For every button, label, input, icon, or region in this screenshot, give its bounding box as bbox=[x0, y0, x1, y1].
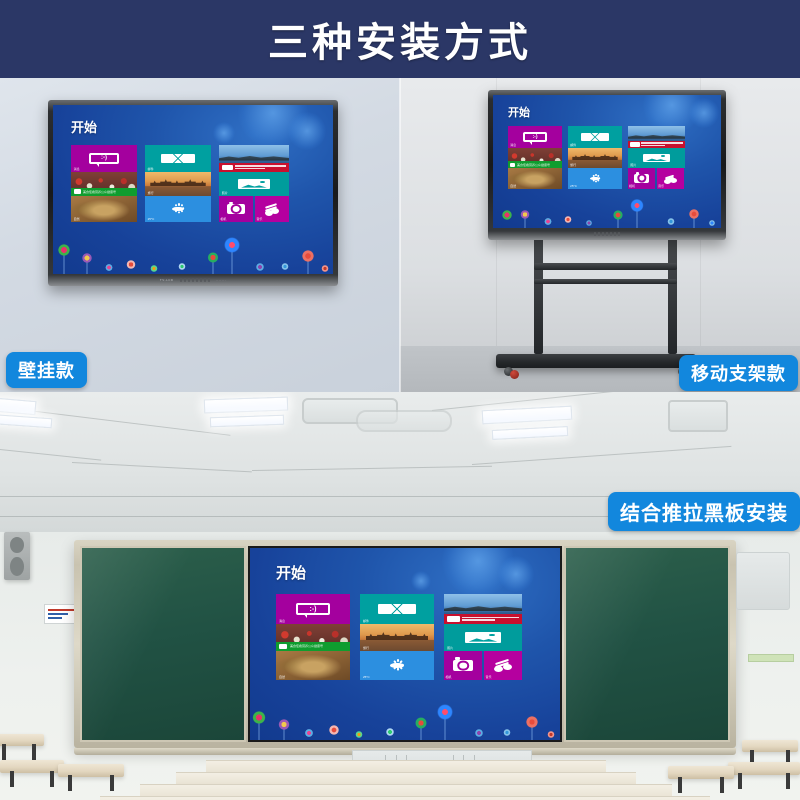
mail-icon bbox=[581, 133, 609, 141]
tile-caption: 音乐 bbox=[256, 217, 262, 221]
ceiling-light bbox=[0, 414, 52, 429]
chat-icon: :-) bbox=[89, 153, 119, 164]
header-banner: 三种安装方式 bbox=[0, 0, 800, 78]
tv-control-panel bbox=[493, 229, 721, 239]
start-label: 开始 bbox=[508, 104, 530, 120]
tile-column-2: 邮件 旅行 bbox=[568, 126, 622, 189]
tv-control-panel: TV-LCD ······· bbox=[53, 275, 333, 285]
leaf-tile[interactable]: 自然 bbox=[276, 651, 350, 680]
mail-tile[interactable]: 邮件 bbox=[145, 145, 211, 172]
tile-caption: 美食佳肴营养公众健康号 bbox=[290, 644, 323, 648]
ceiling-vent bbox=[668, 400, 728, 432]
tile-caption: 消息 bbox=[74, 167, 80, 171]
ceiling-light bbox=[0, 395, 36, 415]
tile-row-bottom: 相机 音乐 bbox=[628, 168, 685, 189]
music-tile[interactable]: 音乐 bbox=[657, 168, 684, 189]
chalkboard-panel-left bbox=[80, 546, 246, 742]
floor-riser bbox=[100, 796, 710, 800]
music-icon bbox=[263, 203, 281, 214]
wall-shelf bbox=[748, 654, 794, 662]
tile-caption: 自然 bbox=[510, 184, 516, 188]
panel-blackboard-classroom: 开始 :-) 消息 美食佳肴营养公众健康号 bbox=[0, 392, 800, 800]
messaging-tile[interactable]: :-) 消息 bbox=[508, 126, 562, 148]
tile-caption: 消息 bbox=[510, 143, 516, 147]
student-desk bbox=[742, 740, 798, 752]
photo-icon bbox=[643, 154, 669, 162]
tile-column-3: 照片 相机 bbox=[628, 126, 685, 189]
tile-caption: 消息 bbox=[279, 619, 285, 623]
music-icon bbox=[663, 174, 677, 183]
badge-mobile-stand: 移动支架款 bbox=[679, 355, 798, 391]
sun-icon bbox=[165, 204, 191, 214]
chalkboard-panel-right bbox=[564, 546, 730, 742]
leaf-tile[interactable]: 自然 bbox=[71, 196, 137, 222]
panel-divider bbox=[399, 78, 401, 392]
castle-photo bbox=[150, 178, 205, 186]
cart-base bbox=[496, 354, 696, 368]
tile-caption: 25°C bbox=[363, 675, 370, 679]
tile-column-1: :-) 消息 美食佳肴营养公众健康号 自然 bbox=[508, 126, 562, 189]
cart-post-right bbox=[668, 236, 677, 354]
chat-icon: :-) bbox=[296, 603, 330, 616]
tile-column-1: :-) 消息 美食佳肴营养公众健康号 bbox=[276, 594, 350, 680]
tile-caption: 美食佳肴营养公众健康号 bbox=[517, 163, 550, 167]
tile-row-bottom: 相机 音乐 bbox=[219, 196, 289, 222]
news-photo bbox=[219, 155, 289, 161]
sliding-blackboard-assembly: 开始 :-) 消息 美食佳肴营养公众健康号 bbox=[74, 540, 736, 748]
tile-caption: 自然 bbox=[279, 675, 285, 679]
tile-column-2: 邮件 旅行 bbox=[360, 594, 434, 680]
badge-wall-mount: 壁挂款 bbox=[6, 352, 87, 388]
tile-caption: 旅行 bbox=[148, 191, 154, 195]
wall-speaker bbox=[4, 532, 30, 580]
model-mark: ······· bbox=[216, 278, 227, 282]
tile-column-3: 照片 相机 bbox=[219, 145, 289, 222]
tile-caption: 照片 bbox=[222, 191, 228, 195]
chart-icon bbox=[74, 189, 81, 194]
badge-blackboard: 结合推拉黑板安装 bbox=[608, 492, 800, 531]
ceiling-light bbox=[204, 397, 288, 414]
news-photo bbox=[444, 605, 522, 612]
music-icon bbox=[493, 659, 513, 672]
camera-icon bbox=[453, 660, 473, 672]
messaging-tile[interactable]: :-) 消息 bbox=[276, 594, 350, 624]
leaf-tile[interactable]: 自然 bbox=[508, 168, 562, 189]
student-desk bbox=[0, 734, 44, 746]
start-screen-classroom: 开始 :-) 消息 美食佳肴营养公众健康号 bbox=[250, 548, 560, 740]
music-tile[interactable]: 音乐 bbox=[255, 196, 289, 222]
photos-tile[interactable]: 照片 bbox=[628, 148, 685, 168]
news-tile[interactable] bbox=[219, 145, 289, 172]
food-tile[interactable]: 美食佳肴营养公众健康号 bbox=[71, 172, 137, 196]
news-icon bbox=[447, 616, 460, 622]
tile-caption: 照片 bbox=[447, 646, 453, 650]
panel-mobile-stand: 开始 :-) 消息 美食佳肴营养公众健康号 bbox=[400, 78, 800, 392]
start-label: 开始 bbox=[71, 117, 97, 136]
product-infographic: 三种安装方式 开始 :-) 消息 bbox=[0, 0, 800, 800]
tile-column-1: :-) 消息 美食佳肴营养公众健康号 自然 bbox=[71, 145, 137, 222]
castle-photo bbox=[572, 153, 617, 160]
weather-tile[interactable]: 25°C bbox=[145, 196, 211, 222]
messaging-tile[interactable]: :-) 消息 bbox=[71, 145, 137, 172]
tile-caption: 邮件 bbox=[363, 619, 369, 623]
sun-icon bbox=[382, 660, 412, 672]
news-banner bbox=[219, 163, 289, 172]
tile-caption: 相机 bbox=[629, 184, 635, 188]
mail-icon bbox=[161, 154, 195, 164]
tv-wall-mounted: 开始 :-) 消息 美食佳肴营养公众健康 bbox=[48, 100, 338, 286]
mail-tile[interactable]: 邮件 bbox=[568, 126, 622, 148]
music-tile[interactable]: 音乐 bbox=[484, 651, 522, 680]
tile-caption: 邮件 bbox=[148, 167, 154, 171]
screen-decoration bbox=[53, 233, 333, 274]
ceiling-light bbox=[492, 426, 568, 440]
travel-tile[interactable]: 旅行 bbox=[145, 172, 211, 196]
floor-riser bbox=[176, 772, 636, 784]
weather-tile[interactable]: 25°C bbox=[360, 651, 434, 680]
food-tile[interactable]: 美食佳肴营养公众健康号 bbox=[508, 148, 562, 168]
cart-crossbar bbox=[534, 279, 677, 284]
ceiling-light bbox=[482, 406, 573, 425]
student-desk bbox=[58, 764, 124, 777]
tile-caption: 旅行 bbox=[570, 163, 576, 167]
page-title: 三种安装方式 bbox=[268, 10, 532, 68]
tile-grid: :-) 消息 美食佳肴营养公众健康号 bbox=[276, 594, 522, 680]
travel-tile[interactable]: 旅行 bbox=[568, 148, 622, 168]
tile-grid: :-) 消息 美食佳肴营养公众健康号 自然 bbox=[71, 145, 289, 222]
tile-row-bottom: 相机 音乐 bbox=[444, 651, 522, 680]
camera-tile[interactable]: 相机 bbox=[628, 168, 655, 189]
tile-caption: 相机 bbox=[220, 217, 226, 221]
tile-caption: 旅行 bbox=[363, 646, 369, 650]
food-tile[interactable]: 美食佳肴营养公众健康号 bbox=[276, 624, 350, 651]
start-screen-wall: 开始 :-) 消息 美食佳肴营养公众健康 bbox=[53, 105, 333, 274]
photos-tile[interactable]: 照片 bbox=[219, 172, 289, 196]
sun-icon bbox=[584, 174, 606, 182]
start-screen-stand: 开始 :-) 消息 美食佳肴营养公众健康号 bbox=[493, 95, 721, 228]
screen-decoration bbox=[493, 196, 721, 228]
tile-caption: 相机 bbox=[446, 675, 452, 679]
panel-wall-mount: 开始 :-) 消息 美食佳肴营养公众健康 bbox=[0, 78, 400, 392]
button-strip[interactable] bbox=[594, 232, 620, 236]
button-strip[interactable] bbox=[180, 278, 210, 282]
photos-tile[interactable]: 照片 bbox=[444, 624, 522, 651]
weather-tile[interactable]: 25°C bbox=[568, 168, 622, 189]
chat-icon: :-) bbox=[523, 132, 548, 141]
mail-icon bbox=[378, 604, 416, 615]
student-desk bbox=[728, 762, 800, 775]
tile-caption: 邮件 bbox=[570, 143, 576, 147]
cart-shelf bbox=[534, 263, 677, 270]
tv-on-stand: 开始 :-) 消息 美食佳肴营养公众健康号 bbox=[488, 90, 726, 240]
chart-icon bbox=[279, 644, 287, 650]
news-banner bbox=[444, 614, 522, 624]
news-photo bbox=[628, 134, 685, 139]
ceiling-projector-mount bbox=[356, 410, 452, 432]
student-desk bbox=[0, 760, 64, 773]
news-banner bbox=[628, 141, 685, 148]
news-tile[interactable] bbox=[444, 594, 522, 624]
chart-icon bbox=[510, 163, 515, 167]
camera-tile[interactable]: 相机 bbox=[444, 651, 482, 680]
tile-caption: 音乐 bbox=[658, 184, 664, 188]
mail-tile[interactable]: 邮件 bbox=[360, 594, 434, 624]
interactive-display: 开始 :-) 消息 美食佳肴营养公众健康号 bbox=[248, 546, 562, 742]
tile-caption: 25°C bbox=[570, 184, 577, 188]
brand-logo: TV-LCD bbox=[160, 278, 174, 282]
student-desk bbox=[668, 766, 734, 779]
top-panels-row: 开始 :-) 消息 美食佳肴营养公众健康 bbox=[0, 78, 800, 392]
tile-column-2: 邮件 旅行 bbox=[145, 145, 211, 222]
tile-column-3: 照片 相机 bbox=[444, 594, 522, 680]
tile-caption: 美食佳肴营养公众健康号 bbox=[83, 190, 116, 194]
floor-riser bbox=[206, 760, 606, 772]
camera-tile[interactable]: 相机 bbox=[219, 196, 253, 222]
board-inner: 开始 :-) 消息 美食佳肴营养公众健康号 bbox=[80, 546, 730, 742]
caster-wheel bbox=[510, 370, 519, 379]
ceiling-light bbox=[210, 415, 284, 428]
castle-photo bbox=[366, 631, 428, 640]
tile-caption: 25°C bbox=[148, 217, 155, 221]
photo-icon bbox=[465, 632, 501, 643]
start-label: 开始 bbox=[276, 562, 306, 583]
camera-icon bbox=[634, 174, 648, 182]
tile-caption: 自然 bbox=[74, 217, 80, 221]
travel-tile[interactable]: 旅行 bbox=[360, 624, 434, 651]
wall-cabinet bbox=[736, 552, 790, 610]
camera-icon bbox=[227, 204, 245, 214]
news-icon bbox=[630, 142, 639, 146]
tile-caption: 音乐 bbox=[486, 675, 492, 679]
tile-grid: :-) 消息 美食佳肴营养公众健康号 自然 bbox=[508, 126, 685, 189]
tile-caption: 照片 bbox=[630, 163, 636, 167]
news-tile[interactable] bbox=[628, 126, 685, 148]
screen-decoration bbox=[250, 694, 560, 740]
cart-post-left bbox=[534, 236, 543, 354]
news-icon bbox=[222, 165, 234, 171]
photo-icon bbox=[238, 179, 270, 189]
